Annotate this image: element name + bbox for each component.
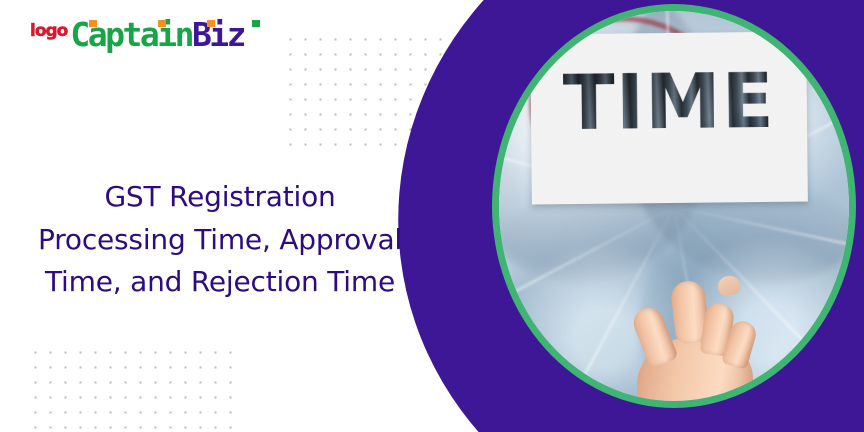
logo-accent-square — [158, 20, 166, 27]
logo-accent-square — [89, 20, 97, 27]
dot-pattern-bottom — [28, 345, 233, 432]
captainbiz-logo[interactable]: logo CaptainBiz — [30, 18, 244, 51]
hand-holding-card — [631, 287, 761, 401]
paper-card: TIME — [530, 32, 808, 205]
promo-banner: TIME logo CaptainBiz GST Re — [0, 0, 864, 432]
headline-line-3: Time, and Rejection Time — [0, 261, 440, 304]
photo-inner: TIME — [499, 11, 849, 401]
page-title: GST Registration Processing Time, Approv… — [0, 176, 440, 304]
logo-prefix-text: logo — [30, 23, 67, 51]
time-cutout-text: TIME — [563, 63, 775, 141]
logo-word-biz: Biz — [192, 15, 244, 54]
logo-accent-square-green — [252, 20, 260, 27]
time-photo-circle: TIME — [492, 4, 856, 408]
time-cutout: TIME — [538, 60, 799, 145]
headline-line-2: Processing Time, Approval — [0, 219, 440, 262]
logo-accent-square — [207, 20, 215, 27]
logo-wordmark: CaptainBiz — [70, 18, 244, 51]
headline-line-1: GST Registration — [0, 176, 440, 219]
finger — [629, 303, 679, 368]
